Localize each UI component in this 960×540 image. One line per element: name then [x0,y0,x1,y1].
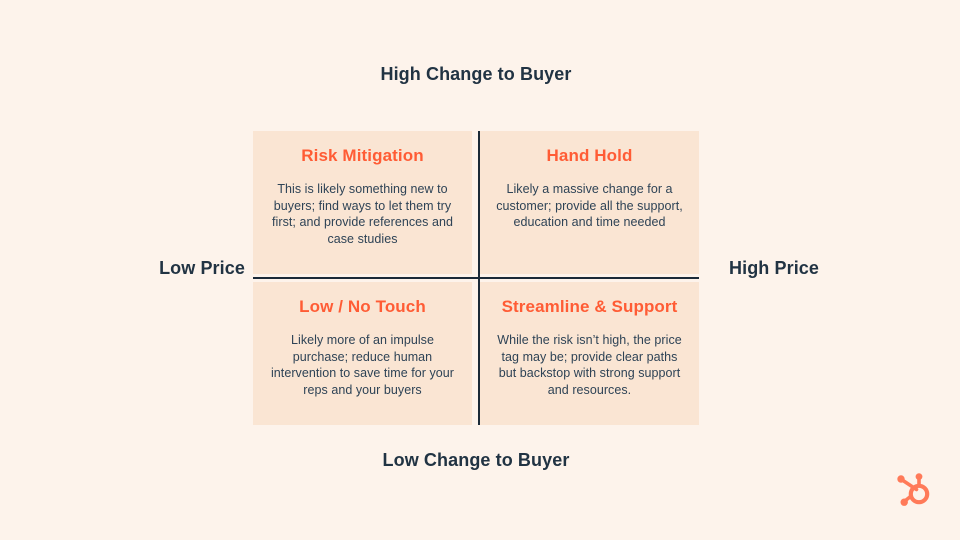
quadrant-risk-mitigation[interactable]: Risk Mitigation This is likely something… [253,131,472,274]
hubspot-logo-icon [890,468,936,514]
quadrant-title: Hand Hold [492,145,687,167]
vertical-axis-line [478,131,480,425]
quadrant-low-no-touch[interactable]: Low / No Touch Likely more of an impulse… [253,282,472,425]
axis-label-top: High Change to Buyer [326,62,626,87]
axis-label-bottom: Low Change to Buyer [326,448,626,473]
quadrant-title: Risk Mitigation [265,145,460,167]
quadrant-body: Likely a massive change for a customer; … [492,181,687,231]
quadrant-body: While the risk isn’t high, the price tag… [492,332,687,398]
quadrant-title: Low / No Touch [265,296,460,318]
quadrant-streamline-support[interactable]: Streamline & Support While the risk isn’… [480,282,699,425]
quadrant-matrix: Risk Mitigation This is likely something… [253,131,699,425]
axis-label-left: Low Price [60,256,245,281]
horizontal-axis-line [253,277,699,279]
axis-label-right: High Price [729,256,879,281]
quadrant-body: This is likely something new to buyers; … [265,181,460,247]
quadrant-hand-hold[interactable]: Hand Hold Likely a massive change for a … [480,131,699,274]
slide-canvas: High Change to Buyer Low Price High Pric… [0,0,960,540]
quadrant-body: Likely more of an impulse purchase; redu… [265,332,460,398]
quadrant-title: Streamline & Support [492,296,687,318]
